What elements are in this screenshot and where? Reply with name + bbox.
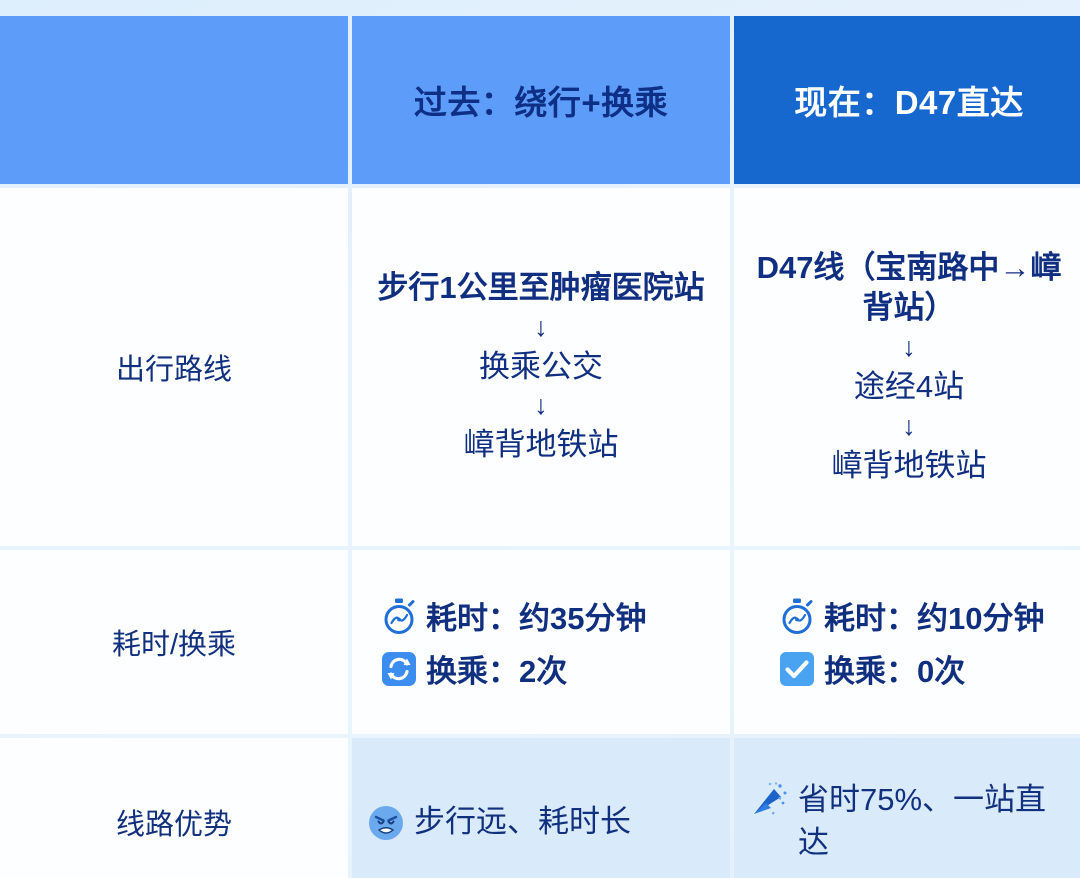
stopwatch-icon: [382, 598, 416, 634]
metric-list-now: 耗时：约10分钟 换乘：0次: [750, 593, 1068, 691]
route-comparison-table: 过去：绕行+换乘 现在：D47直达 出行路线 步行1公里至肿瘤医院站 ↓ 换乘公…: [0, 0, 1080, 878]
cell-past-route: 步行1公里至肿瘤医院站 ↓ 换乘公交 ↓ 嶂背地铁站: [352, 188, 730, 546]
route-flow-now: D47线（宝南路中→嶂背站） ↓ 途经4站 ↓ 嶂背地铁站: [750, 248, 1068, 487]
route-step: D47线（宝南路中→嶂背站）: [750, 248, 1068, 330]
metric-text: 耗时：约35分钟: [426, 593, 646, 638]
stopwatch-icon: [780, 598, 814, 634]
route-step: 嶂背地铁站: [832, 446, 987, 487]
weary-face-icon: [368, 805, 404, 841]
cell-now-route: D47线（宝南路中→嶂背站） ↓ 途经4站 ↓ 嶂背地铁站: [734, 188, 1080, 546]
cell-past-metrics: 耗时：约35分钟 换乘：2次: [352, 550, 730, 734]
cell-past-advantage: 步行远、耗时长: [352, 738, 730, 878]
down-arrow-icon: ↓: [902, 412, 916, 442]
cell-now-advantage: 省时75%、一站直达: [734, 738, 1080, 878]
route-step: 步行1公里至肿瘤医院站: [377, 268, 704, 309]
metric-row: 换乘：0次: [780, 646, 965, 691]
advantage-text: 步行远、耗时长: [414, 801, 714, 844]
metric-row: 耗时：约35分钟: [382, 593, 646, 638]
advantage-past: 步行远、耗时长: [368, 801, 714, 844]
down-arrow-icon: ↓: [534, 391, 548, 421]
advantage-text: 省时75%、一站直达: [798, 779, 1068, 865]
row-label-advantage: 线路优势: [0, 738, 348, 878]
table-header-blank-corner: [0, 16, 348, 184]
down-arrow-icon: ↓: [902, 333, 916, 363]
route-step: 换乘公交: [479, 347, 603, 388]
down-arrow-icon: ↓: [534, 313, 548, 343]
route-step: 途经4站: [854, 367, 964, 408]
route-flow-past: 步行1公里至肿瘤医院站 ↓ 换乘公交 ↓ 嶂背地铁站: [368, 268, 714, 466]
metric-row: 换乘：2次: [382, 646, 567, 691]
row-label-duration-transfer: 耗时/换乘: [0, 550, 348, 734]
table-header-past: 过去：绕行+换乘: [352, 16, 730, 184]
route-step: 嶂背地铁站: [464, 425, 619, 466]
row-label-route: 出行路线: [0, 188, 348, 546]
metric-text: 换乘：2次: [426, 646, 567, 691]
metric-row: 耗时：约10分钟: [780, 593, 1044, 638]
advantage-now: 省时75%、一站直达: [750, 779, 1068, 865]
transfer-icon: [382, 652, 416, 686]
metric-list-past: 耗时：约35分钟 换乘：2次: [368, 593, 714, 691]
table-header-now: 现在：D47直达: [734, 16, 1080, 184]
party-popper-icon: [750, 781, 788, 819]
check-icon: [780, 652, 814, 686]
metric-text: 耗时：约10分钟: [824, 593, 1044, 638]
cell-now-metrics: 耗时：约10分钟 换乘：0次: [734, 550, 1080, 734]
metric-text: 换乘：0次: [824, 646, 965, 691]
